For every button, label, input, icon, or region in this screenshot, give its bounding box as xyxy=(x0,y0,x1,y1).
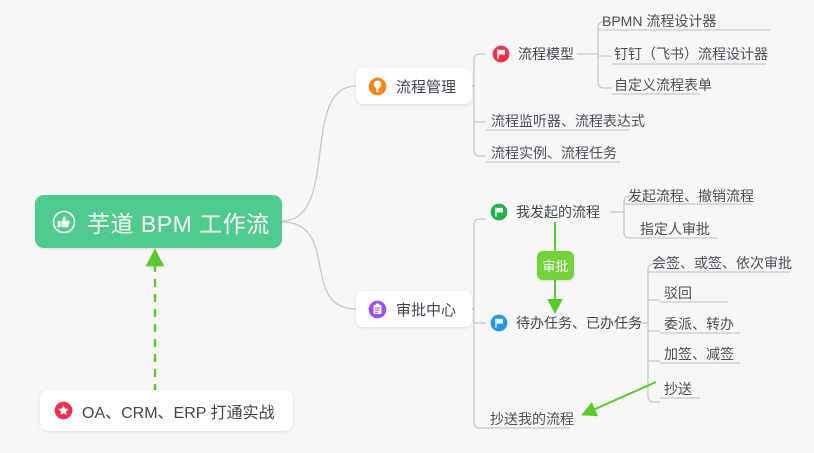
flag-icon xyxy=(490,314,508,332)
node-label: 我发起的流程 xyxy=(516,202,600,222)
branch-label: 审批中心 xyxy=(396,299,456,320)
leaf-node[interactable]: 发起流程、撤销流程 xyxy=(628,186,754,206)
branch-label: 流程管理 xyxy=(396,76,456,97)
branch-approval-center[interactable]: 审批中心 xyxy=(356,291,472,327)
node-process-model[interactable]: 流程模型 xyxy=(492,44,574,64)
copy-to-me-arrow xyxy=(584,382,656,414)
node-label: 流程模型 xyxy=(518,44,574,64)
leaf-node[interactable]: 加签、减签 xyxy=(664,344,734,364)
leaf-node[interactable]: 抄送我的流程 xyxy=(490,409,574,429)
node-label: 待办任务、已办任务 xyxy=(516,313,642,333)
node-my-initiated-processes[interactable]: 我发起的流程 xyxy=(490,202,600,222)
branch-process-management[interactable]: 流程管理 xyxy=(356,68,472,104)
leaf-node[interactable]: 会签、或签、依次审批 xyxy=(652,253,792,273)
note-label: OA、CRM、ERP 打通实战 xyxy=(82,399,275,423)
approval-tag-label: 审批 xyxy=(542,256,568,275)
note-node[interactable]: OA、CRM、ERP 打通实战 xyxy=(40,390,293,431)
approval-tag[interactable]: 审批 xyxy=(537,251,574,280)
mindmap-canvas: 芋道 BPM 工作流 OA、CRM、ERP 打通实战 流程管理 xyxy=(0,0,814,453)
leaf-node[interactable]: 流程监听器、流程表达式 xyxy=(491,111,645,131)
leaf-node[interactable]: 抄送 xyxy=(664,379,692,399)
leaf-node[interactable]: 驳回 xyxy=(664,283,692,303)
node-todo-done-tasks[interactable]: 待办任务、已办任务 xyxy=(490,313,642,333)
lightbulb-icon xyxy=(368,77,387,96)
leaf-node[interactable]: 钉钉（飞书）流程设计器 xyxy=(614,44,768,64)
leaf-node[interactable]: BPMN 流程设计器 xyxy=(602,11,716,31)
flag-icon xyxy=(490,203,508,221)
leaf-node[interactable]: 自定义流程表单 xyxy=(614,75,712,95)
leaf-node[interactable]: 指定人审批 xyxy=(640,219,710,239)
leaf-node[interactable]: 流程实例、流程任务 xyxy=(491,143,617,163)
thumbs-up-icon xyxy=(52,210,76,234)
root-node[interactable]: 芋道 BPM 工作流 xyxy=(35,195,282,248)
leaf-node[interactable]: 委派、转办 xyxy=(664,314,734,334)
clipboard-icon xyxy=(368,300,387,319)
star-icon xyxy=(54,401,73,420)
root-label: 芋道 BPM 工作流 xyxy=(87,205,270,239)
flag-icon xyxy=(492,45,510,63)
